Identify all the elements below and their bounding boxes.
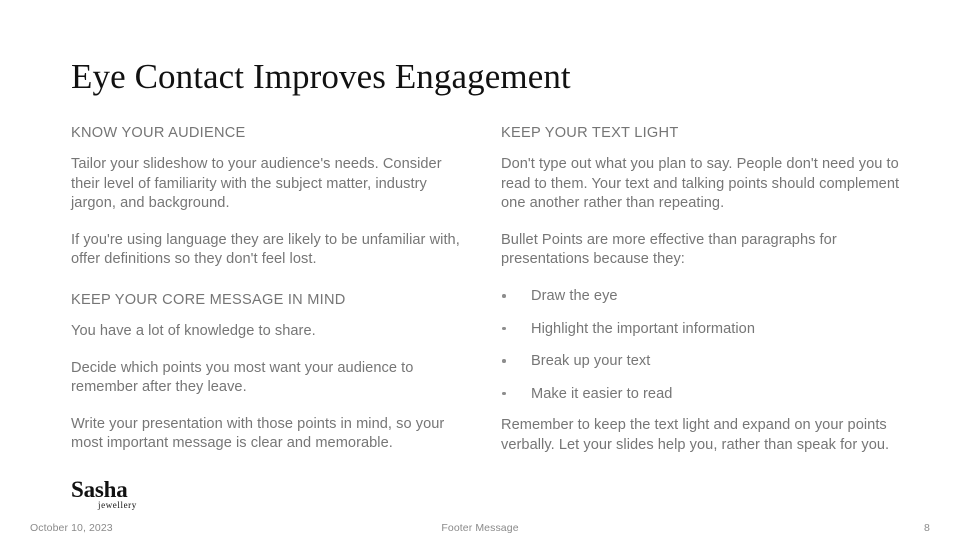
page-title: Eye Contact Improves Engagement [71,56,591,97]
list-item-label: Highlight the important information [531,321,755,337]
slide-footer: October 10, 2023 Footer Message 8 [0,521,960,540]
footer-page-number: 8 [924,521,930,535]
left-column: KNOW YOUR AUDIENCE Tailor your slideshow… [71,124,471,454]
paragraph: You have a lot of knowledge to share. [71,322,471,342]
bullet-list: Draw the eye Highlight the important inf… [501,287,905,404]
section-keep-your-core-message: KEEP YOUR CORE MESSAGE IN MIND You have … [71,291,471,454]
list-item-label: Break up your text [531,353,650,369]
bullet-dot-icon [502,359,506,363]
list-item: Highlight the important information [501,320,905,340]
section-heading-keep-your-text-light: KEEP YOUR TEXT LIGHT [501,124,905,142]
section-know-your-audience: KNOW YOUR AUDIENCE Tailor your slideshow… [71,124,471,270]
brand-logo-name: Sasha [71,478,191,501]
bullet-dot-icon [502,392,506,396]
paragraph: Don't type out what you plan to say. Peo… [501,155,905,214]
footer-message: Footer Message [0,521,960,535]
list-item: Break up your text [501,352,905,372]
paragraph: If you're using language they are likely… [71,231,471,270]
brand-logo: Sasha jewellery [71,478,191,510]
right-column: KEEP YOUR TEXT LIGHT Don't type out what… [501,124,905,456]
list-item-label: Draw the eye [531,288,618,304]
paragraph: Decide which points you most want your a… [71,359,471,398]
bullet-dot-icon [502,327,506,331]
paragraph: Bullet Points are more effective than pa… [501,231,905,270]
section-heading-keep-your-core-message: KEEP YOUR CORE MESSAGE IN MIND [71,291,471,309]
paragraph: Write your presentation with those point… [71,415,471,454]
list-item: Draw the eye [501,287,905,307]
paragraph: Remember to keep the text light and expa… [501,416,905,455]
paragraph: Tailor your slideshow to your audience's… [71,155,471,214]
section-keep-your-text-light: KEEP YOUR TEXT LIGHT Don't type out what… [501,124,905,456]
list-item-label: Make it easier to read [531,386,672,402]
section-heading-know-your-audience: KNOW YOUR AUDIENCE [71,124,471,142]
slide-canvas: Eye Contact Improves Engagement KNOW YOU… [0,0,960,540]
list-item: Make it easier to read [501,385,905,405]
bullet-dot-icon [502,294,506,298]
